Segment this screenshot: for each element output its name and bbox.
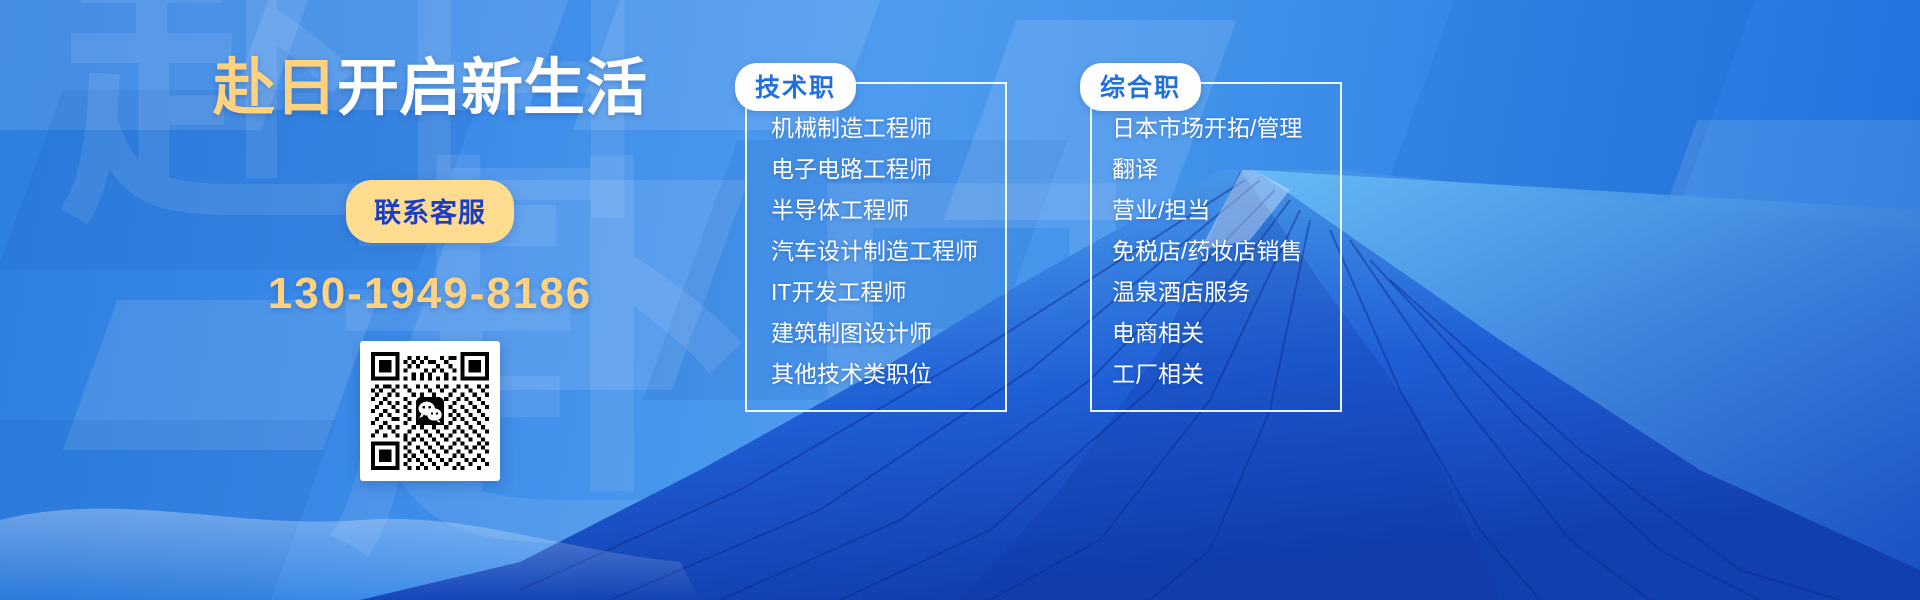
list-item[interactable]: 日本市场开拓/管理 bbox=[1112, 108, 1302, 149]
list-item[interactable]: 电子电路工程师 bbox=[771, 149, 978, 190]
list-item[interactable]: 机械制造工程师 bbox=[771, 108, 978, 149]
list-item[interactable]: 电商相关 bbox=[1112, 313, 1302, 354]
list-item[interactable]: IT开发工程师 bbox=[771, 272, 978, 313]
contact-support-button[interactable]: 联系客服 bbox=[346, 180, 514, 243]
phone-number[interactable]: 130-1949-8186 bbox=[150, 269, 710, 319]
left-content-column: 赴日开启新生活 联系客服 130-1949-8186 bbox=[150, 30, 710, 570]
technical-jobs-box: 技术职 机械制造工程师 电子电路工程师 半导体工程师 汽车设计制造工程师 IT开… bbox=[745, 82, 1007, 412]
general-jobs-box: 综合职 日本市场开拓/管理 翻译 营业/担当 免税店/药妆店销售 温泉酒店服务 … bbox=[1090, 82, 1342, 412]
list-item[interactable]: 汽车设计制造工程师 bbox=[771, 231, 978, 272]
list-item[interactable]: 免税店/药妆店销售 bbox=[1112, 231, 1302, 272]
list-item[interactable]: 建筑制图设计师 bbox=[771, 313, 978, 354]
headline-accent: 赴日 bbox=[213, 54, 337, 123]
headline-rest: 开启新生活 bbox=[337, 54, 647, 123]
list-item[interactable]: 工厂相关 bbox=[1112, 354, 1302, 395]
general-jobs-list: 日本市场开拓/管理 翻译 营业/担当 免税店/药妆店销售 温泉酒店服务 电商相关… bbox=[1112, 108, 1302, 395]
list-item[interactable]: 半导体工程师 bbox=[771, 190, 978, 231]
wechat-qr-code[interactable] bbox=[360, 341, 500, 481]
qr-code-image bbox=[371, 352, 489, 470]
technical-jobs-list: 机械制造工程师 电子电路工程师 半导体工程师 汽车设计制造工程师 IT开发工程师… bbox=[771, 108, 978, 395]
page-title: 赴日开启新生活 bbox=[150, 58, 710, 120]
list-item[interactable]: 温泉酒店服务 bbox=[1112, 272, 1302, 313]
list-item[interactable]: 翻译 bbox=[1112, 149, 1302, 190]
list-item[interactable]: 营业/担当 bbox=[1112, 190, 1302, 231]
list-item[interactable]: 其他技术类职位 bbox=[771, 354, 978, 395]
technical-jobs-label: 技术职 bbox=[735, 63, 856, 111]
general-jobs-label: 综合职 bbox=[1080, 63, 1201, 111]
promo-banner: 赴日 赴日 bbox=[0, 0, 1920, 600]
